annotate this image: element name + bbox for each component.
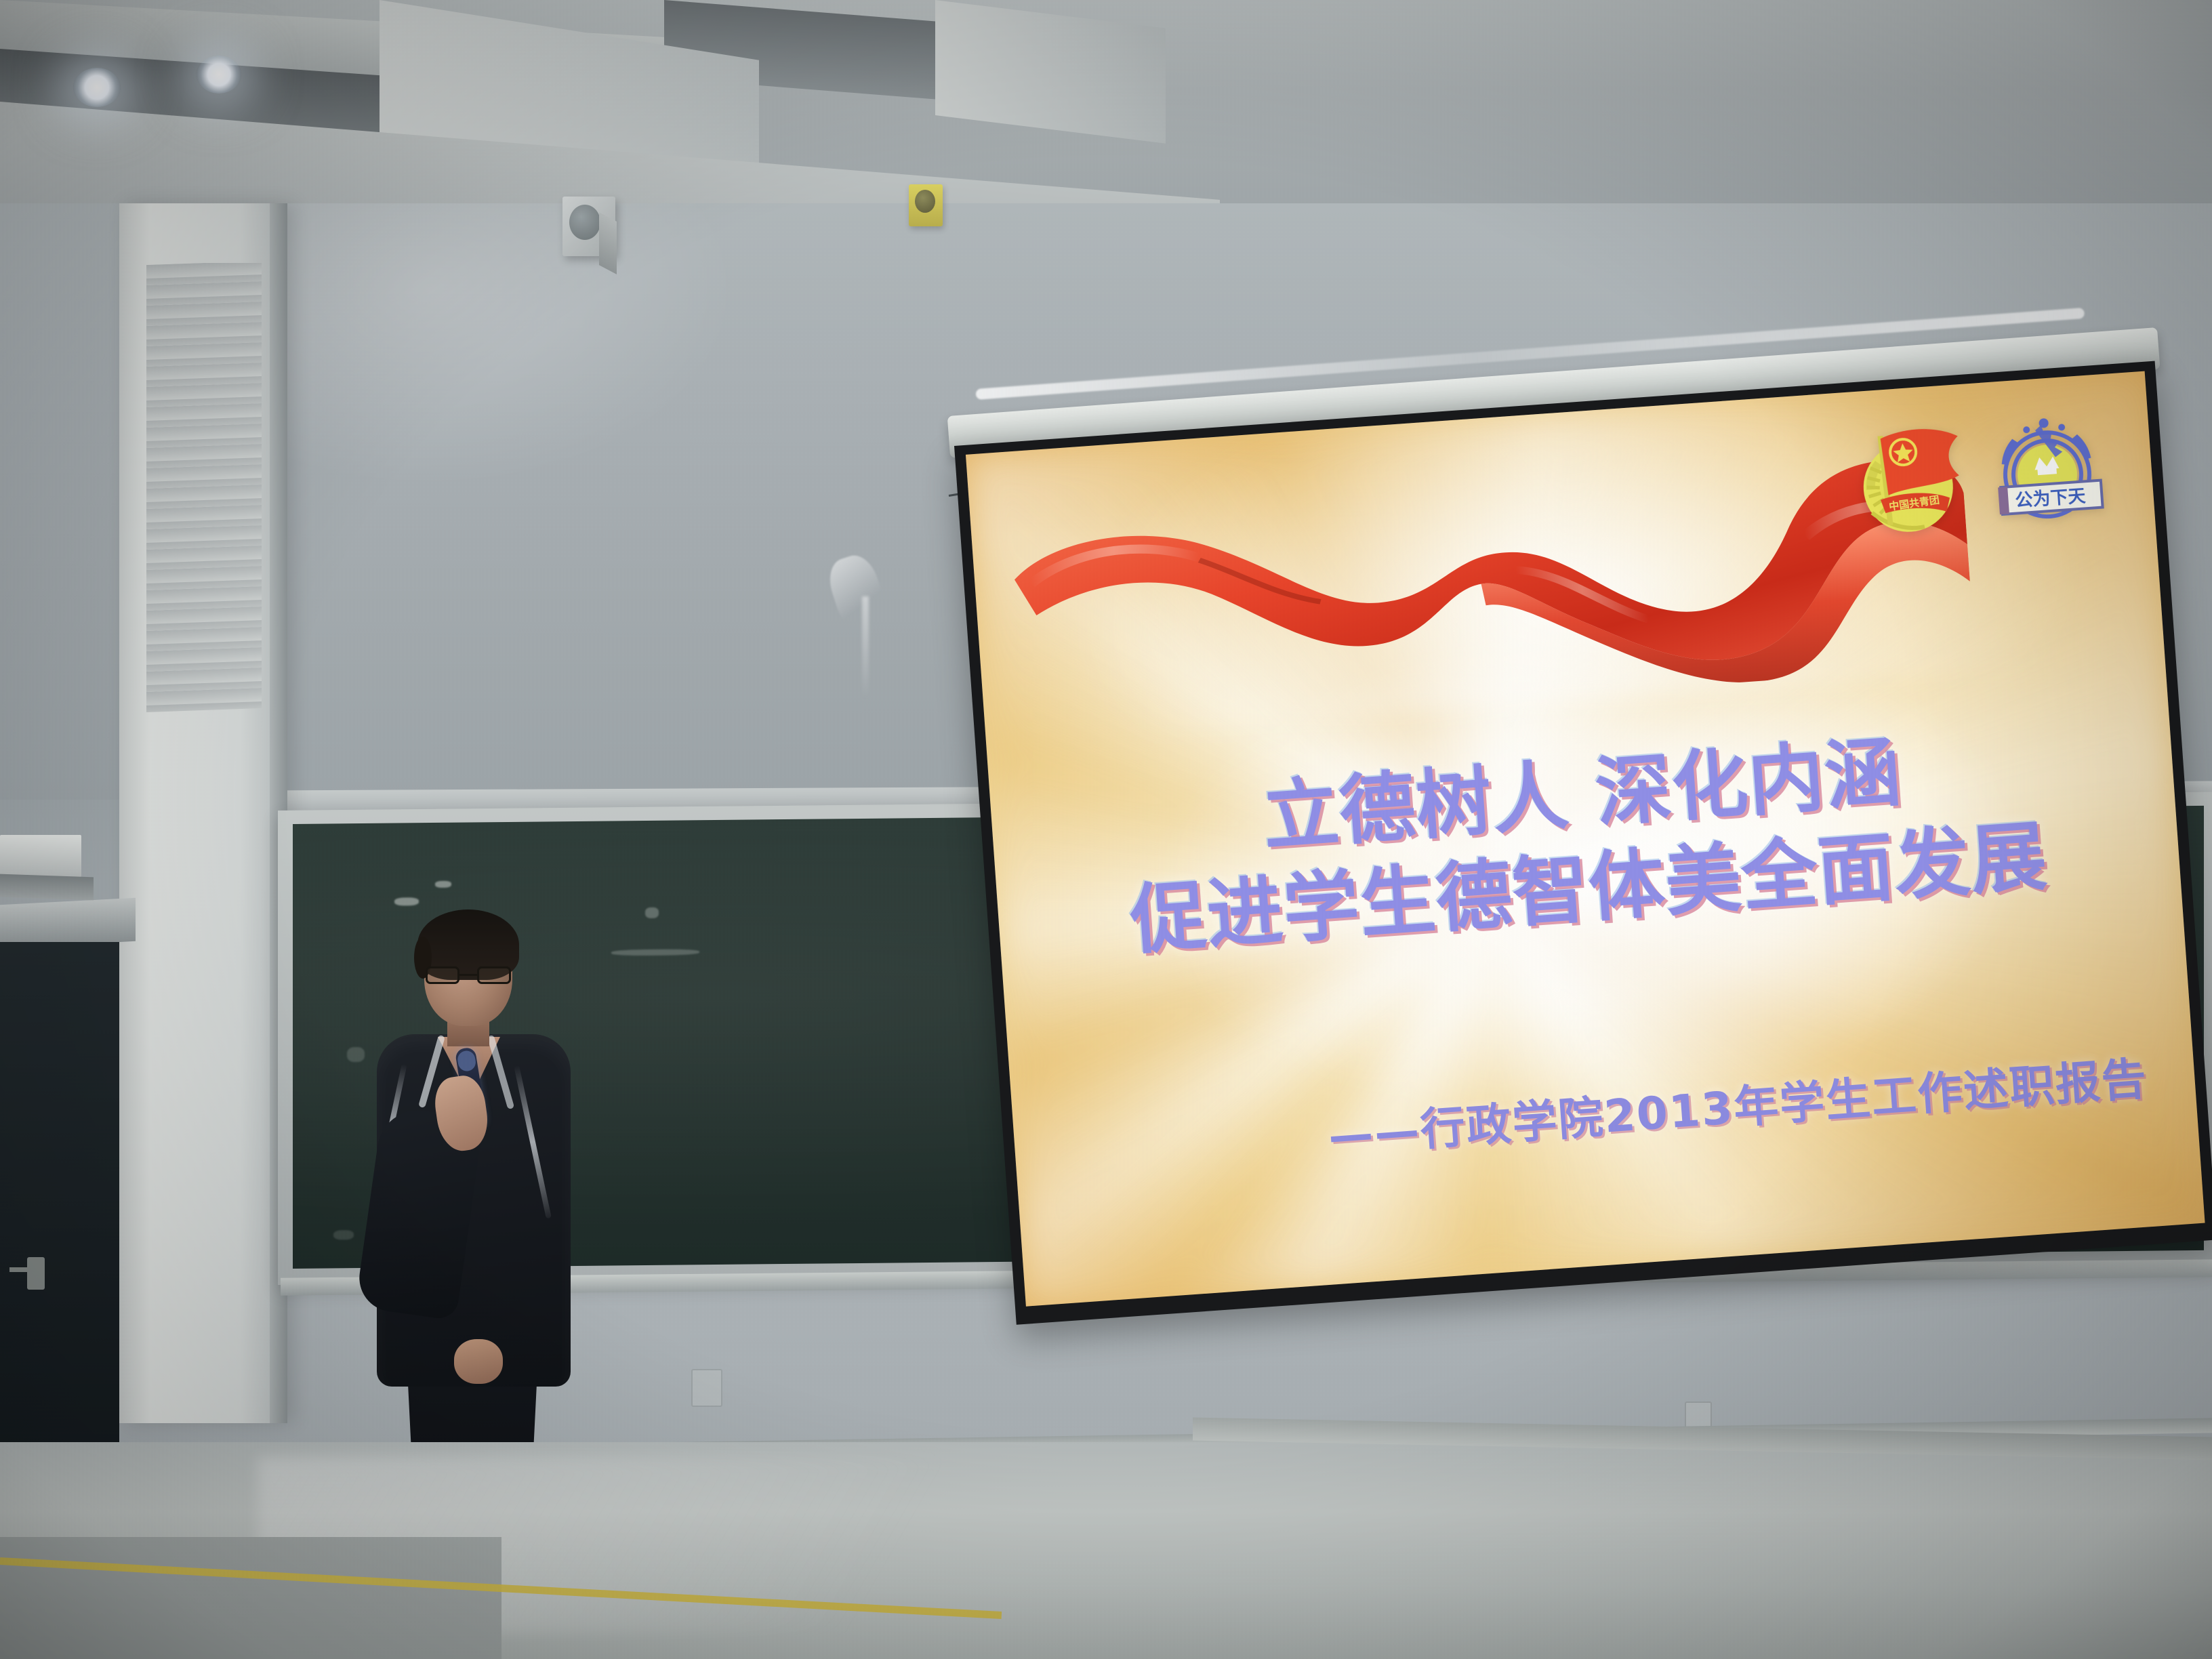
ceiling-beam	[935, 0, 1166, 144]
door-handle-icon[interactable]	[27, 1257, 45, 1290]
lecture-hall-photo: 中国共青团	[0, 0, 2212, 1659]
ceiling	[0, 0, 2212, 224]
floor-shadow-area	[0, 1537, 501, 1659]
wall-tape-residue	[862, 596, 869, 698]
louver-grille	[146, 263, 262, 731]
downlight-icon	[197, 56, 241, 94]
motion-sensor	[909, 184, 943, 226]
communist-youth-league-emblem: 中国共青团	[1842, 418, 1972, 546]
wall-unit	[0, 835, 81, 877]
sensor-lens-icon	[915, 190, 935, 213]
emblem-group: 中国共青团	[1842, 409, 2108, 546]
side-door[interactable]	[0, 942, 119, 1525]
downlight-icon	[73, 68, 121, 107]
speaker-cone-icon	[569, 205, 600, 240]
power-outlet	[691, 1369, 722, 1407]
projection-screen: 中国共青团	[949, 380, 2212, 1355]
door-lintel	[0, 898, 136, 948]
school-crest-emblem: 公为下天	[1986, 409, 2108, 535]
eyeglasses-icon	[426, 966, 511, 985]
screen-border: 中国共青团	[954, 361, 2212, 1325]
wall-speaker	[562, 197, 615, 256]
wall-unit-shadow	[0, 874, 94, 901]
screen-surface: 中国共青团	[966, 371, 2205, 1307]
presenter-hand	[454, 1339, 503, 1384]
wall-light-sheen	[224, 203, 739, 488]
speaker-side	[599, 212, 617, 274]
